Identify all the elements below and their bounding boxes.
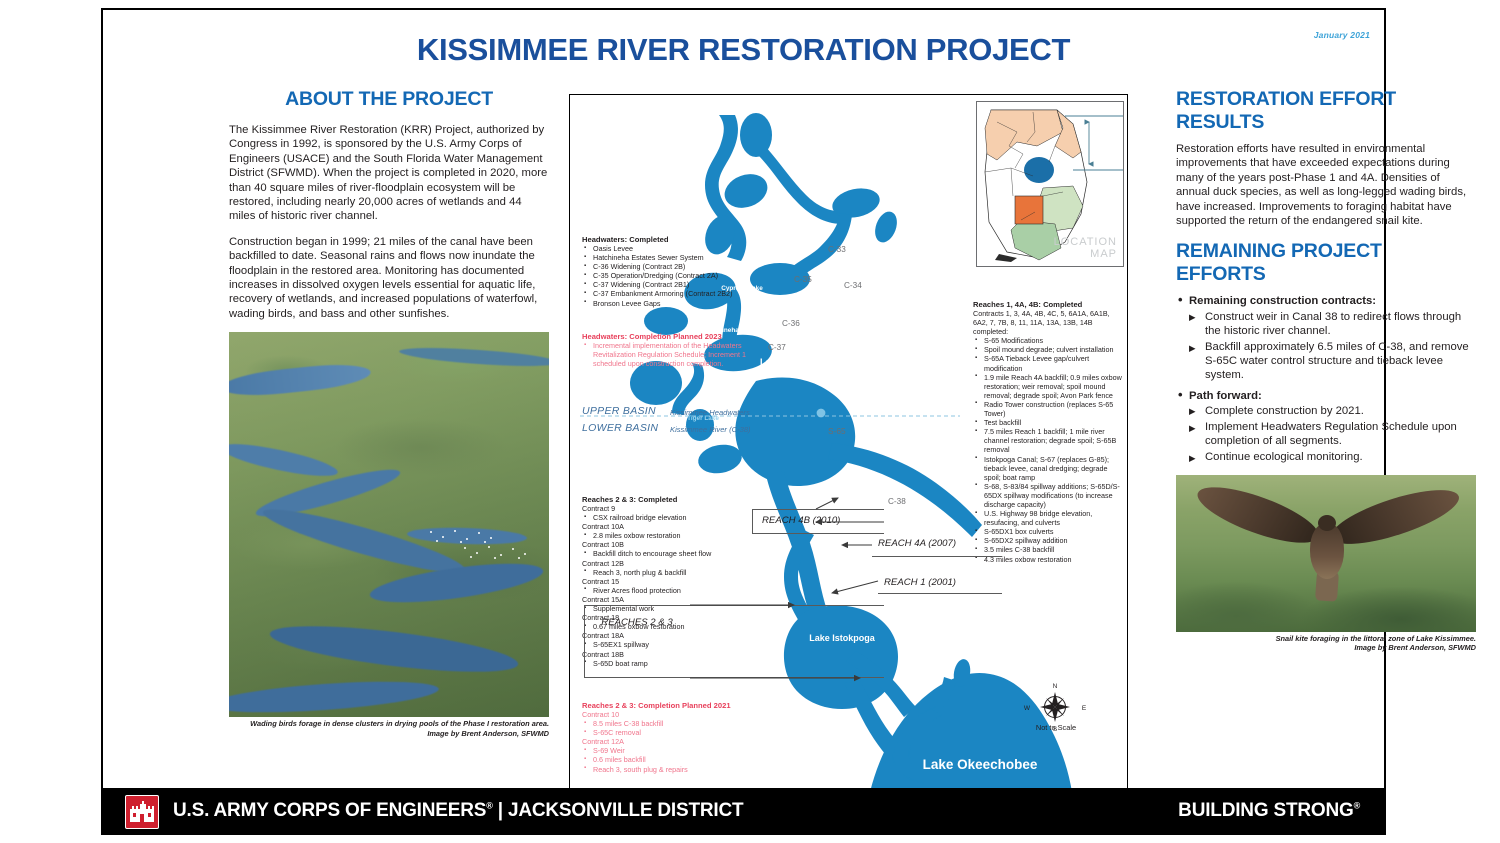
caption-line-1: Snail kite foraging in the littoral zone… (1176, 634, 1476, 644)
list-item: CSX railroad bridge elevation (582, 513, 762, 522)
lower-basin-sub: Kissimmee River (C-38) (670, 425, 751, 434)
footer-tagline: BUILDING STRONG® (1178, 800, 1360, 822)
list-item: 1.9 mile Reach 4A backfill; 0.9 miles ox… (973, 373, 1123, 400)
lake-label-kissimmee: Lake Kissimmee (760, 357, 828, 367)
headwaters-planned-list: Incremental implementation of the Headwa… (582, 341, 772, 368)
snail-kite-caption: Snail kite foraging in the littoral zone… (1176, 634, 1476, 653)
list-item: Bronson Levee Gaps (582, 299, 772, 308)
group-label: Path forward: (1189, 390, 1262, 402)
results-paragraph: Restoration efforts have resulted in env… (1176, 142, 1476, 228)
castle-icon (129, 800, 155, 824)
registered-mark-icon: ® (1354, 801, 1360, 811)
list-item: S-69 Weir (582, 746, 767, 755)
contract-name: Contract 15A (582, 595, 762, 604)
contract-name: Contract 10A (582, 522, 762, 531)
poster-frame: January 2021 KISSIMMEE RIVER RESTORATION… (101, 8, 1386, 835)
project-map: Headwaters: Completed Oasis Levee Hatchi… (569, 94, 1128, 793)
contract-name: Contract 12A (582, 737, 767, 746)
reaches-1-4a-4b-intro: Contracts 1, 3, 4A, 4B, 4C, 5, 6A1A, 6A1… (973, 309, 1123, 336)
list-item: 8.5 miles C-38 backfill (582, 719, 767, 728)
contract-name: Contract 9 (582, 504, 762, 513)
wading-birds-photo (229, 332, 549, 717)
page-title: KISSIMMEE RIVER RESTORATION PROJECT (103, 32, 1384, 68)
about-paragraph-1: The Kissimmee River Restoration (KRR) Pr… (229, 123, 549, 224)
list-item: Spoil mound degrade; culvert installatio… (973, 345, 1123, 354)
lower-basin-label: LOWER BASIN (582, 422, 658, 434)
contract-name: Contract 10 (582, 710, 767, 719)
list-item: Test backfill (973, 418, 1123, 427)
about-heading: ABOUT THE PROJECT (229, 88, 549, 111)
lake-label-okeechobee: Lake Okeechobee (890, 761, 1070, 768)
sub-item: Complete construction by 2021. (1189, 404, 1476, 418)
upper-basin-label: UPPER BASIN (582, 405, 656, 417)
sub-item: Backfill approximately 6.5 miles of C-38… (1189, 340, 1476, 383)
list-item: C-36 Widening (Contract 2B) (582, 262, 772, 271)
contract-name: Contract 10B (582, 540, 762, 549)
snail-kite-photo (1176, 475, 1476, 632)
kite-body (1310, 523, 1344, 579)
list-item: River Acres flood protection (582, 586, 762, 595)
reaches-23-heading: Reaches 2 & 3: Completed (582, 495, 762, 504)
contract-group: Contract 15 River Acres flood protection (582, 577, 762, 595)
headwaters-planned-block: Headwaters: Completion Planned 2023 Incr… (582, 332, 772, 368)
structure-label-s65: S-65 (828, 426, 846, 436)
poster-root: January 2021 KISSIMMEE RIVER RESTORATION… (0, 0, 1500, 843)
sub-item: Continue ecological monitoring. (1189, 450, 1476, 464)
inset-title-line-2: MAP (1054, 248, 1117, 260)
footer-org-text: U.S. ARMY CORPS OF ENGINEERS® | JACKSONV… (173, 800, 743, 822)
headwaters-completed-block: Headwaters: Completed Oasis Levee Hatchi… (582, 235, 772, 308)
list-item: 0.6 miles backfill (582, 755, 767, 764)
footer-separator: | (498, 800, 503, 821)
canal-label-c34: C-34 (844, 281, 862, 290)
list-item: 2.8 miles oxbow restoration (582, 531, 762, 540)
list-item: Radio Tower construction (replaces S-65 … (973, 400, 1123, 418)
remaining-group: Path forward: Complete construction by 2… (1176, 389, 1476, 465)
page-margin-left (0, 0, 101, 843)
kite-right-wing (1326, 479, 1465, 555)
lake-label-istokpoga: Lake Istokpoga (808, 633, 876, 643)
list-item: Hatchineha Estates Sewer System (582, 253, 772, 262)
location-map-inset: LOCATION MAP (976, 101, 1124, 267)
list-item: S-65A Tieback Levee gap/culvert modifica… (973, 354, 1123, 372)
reach-1-callout-box (878, 567, 1002, 594)
results-body: Restoration efforts have resulted in env… (1176, 142, 1476, 228)
canal-label-c37: C-37 (768, 343, 786, 352)
results-heading: RESTORATION EFFORT RESULTS (1176, 88, 1476, 134)
contract-group: Contract 10 8.5 miles C-38 backfill S-65… (582, 710, 767, 737)
wading-birds-caption: Wading birds forage in dense clusters in… (229, 719, 549, 738)
list-item: Reach 3, north plug & backfill (582, 568, 762, 577)
reach-4b-label: REACH 4B (2010) (762, 515, 840, 526)
tagline-text: BUILDING STRONG (1178, 800, 1353, 821)
group-sublist: Complete construction by 2021. Implement… (1189, 404, 1476, 465)
lake-label-cypress: Cypress Lake (720, 285, 764, 292)
list-item: Backfill ditch to encourage sheet flow (582, 549, 762, 558)
reaches-1-4a-4b-heading: Reaches 1, 4A, 4B: Completed (973, 300, 1123, 309)
list-item: Reach 3, south plug & repairs (582, 765, 767, 774)
headwaters-completed-heading: Headwaters: Completed (582, 235, 772, 244)
about-column: ABOUT THE PROJECT The Kissimmee River Re… (229, 88, 549, 738)
lake-label-hatchineha: Lake Hatchineha (688, 327, 734, 334)
reaches-1-4a-4b-list: S-65 Modifications Spoil mound degrade; … (973, 336, 1123, 563)
contract-group: Contract 10A 2.8 miles oxbow restoration (582, 522, 762, 540)
svg-text:E: E (1082, 705, 1087, 712)
list-item: C-35 Operation/Dredging (Contract 2A) (582, 271, 772, 280)
canal-label-c35: C-35 (794, 275, 812, 284)
list-item: Incremental implementation of the Headwa… (582, 341, 772, 368)
reaches-23-label: REACHES 2 & 3 (592, 617, 682, 628)
list-item: S-65 Modifications (973, 336, 1123, 345)
scale-note: Not to Scale (1016, 723, 1096, 732)
remaining-group: Remaining construction contracts: Constr… (1176, 294, 1476, 382)
svg-text:N: N (1053, 683, 1058, 690)
footer-org: U.S. ARMY CORPS OF ENGINEERS (173, 800, 486, 821)
canal-label-c36: C-36 (782, 319, 800, 328)
wading-birds-cluster (459, 544, 537, 562)
sub-item: Construct weir in Canal 38 to redirect f… (1189, 310, 1476, 338)
contract-name: Contract 15 (582, 577, 762, 586)
results-column: RESTORATION EFFORT RESULTS Restoration e… (1176, 88, 1476, 653)
contract-group: Contract 9 CSX railroad bridge elevation (582, 504, 762, 522)
footer-district: JACKSONVILLE DISTRICT (508, 800, 743, 821)
about-paragraph-2: Construction began in 1999; 21 miles of … (229, 235, 549, 321)
list-item: S-65C removal (582, 728, 767, 737)
list-item: U.S. Highway 98 bridge elevation, resufa… (973, 509, 1123, 527)
contract-name: Contract 12B (582, 559, 762, 568)
caption-line-2: Image by Brent Anderson, SFWMD (229, 729, 549, 739)
canal-label-c38: C-38 (888, 497, 906, 506)
remaining-efforts-list: Remaining construction contracts: Constr… (1176, 294, 1476, 464)
caption-line-1: Wading birds forage in dense clusters in… (229, 719, 549, 729)
contract-group: Contract 10B Backfill ditch to encourage… (582, 540, 762, 558)
registered-mark-icon: ® (486, 801, 492, 811)
list-item: Istokpoga Canal; S-67 (replaces G-85); t… (973, 455, 1123, 482)
contract-group: Contract 12B Reach 3, north plug & backf… (582, 559, 762, 577)
canal-label-c33: C-33 (828, 245, 846, 254)
caption-line-2: Image by Brent Anderson, SFWMD (1176, 643, 1476, 653)
inset-title: LOCATION MAP (1054, 236, 1117, 260)
lake-label-tiger: Tiger Lake (686, 415, 720, 422)
headwaters-completed-list: Oasis Levee Hatchineha Estates Sewer Sys… (582, 244, 772, 308)
kite-head (1318, 515, 1336, 531)
reach-4a-label: REACH 4A (2007) (878, 538, 956, 549)
svg-text:W: W (1024, 705, 1031, 712)
list-item: S-68, S-83/84 spillway additions; S-65D/… (973, 482, 1123, 509)
group-sublist: Construct weir in Canal 38 to redirect f… (1189, 310, 1476, 383)
kite-left-wing (1192, 476, 1325, 554)
inset-title-line-1: LOCATION (1054, 236, 1117, 248)
reaches-23-planned-block: Reaches 2 & 3: Completion Planned 2021 C… (582, 701, 767, 774)
list-item: 7.5 miles Reach 1 backfill; 1 mile river… (973, 427, 1123, 454)
reaches-23-planned-heading: Reaches 2 & 3: Completion Planned 2021 (582, 701, 767, 710)
contract-group: Contract 12A S-69 Weir 0.6 miles backfil… (582, 737, 767, 773)
remaining-heading: REMAINING PROJECT EFFORTS (1176, 240, 1476, 286)
headwaters-planned-heading: Headwaters: Completion Planned 2023 (582, 332, 772, 341)
footer-bar: U.S. ARMY CORPS OF ENGINEERS® | JACKSONV… (101, 788, 1386, 835)
reaches-1-4a-4b-block: Reaches 1, 4A, 4B: Completed Contracts 1… (973, 300, 1123, 564)
list-item: Oasis Levee (582, 244, 772, 253)
usace-castle-logo (125, 795, 159, 829)
sub-item: Implement Headwaters Regulation Schedule… (1189, 420, 1476, 448)
group-label: Remaining construction contracts: (1189, 295, 1376, 307)
about-body: The Kissimmee River Restoration (KRR) Pr… (229, 123, 549, 321)
